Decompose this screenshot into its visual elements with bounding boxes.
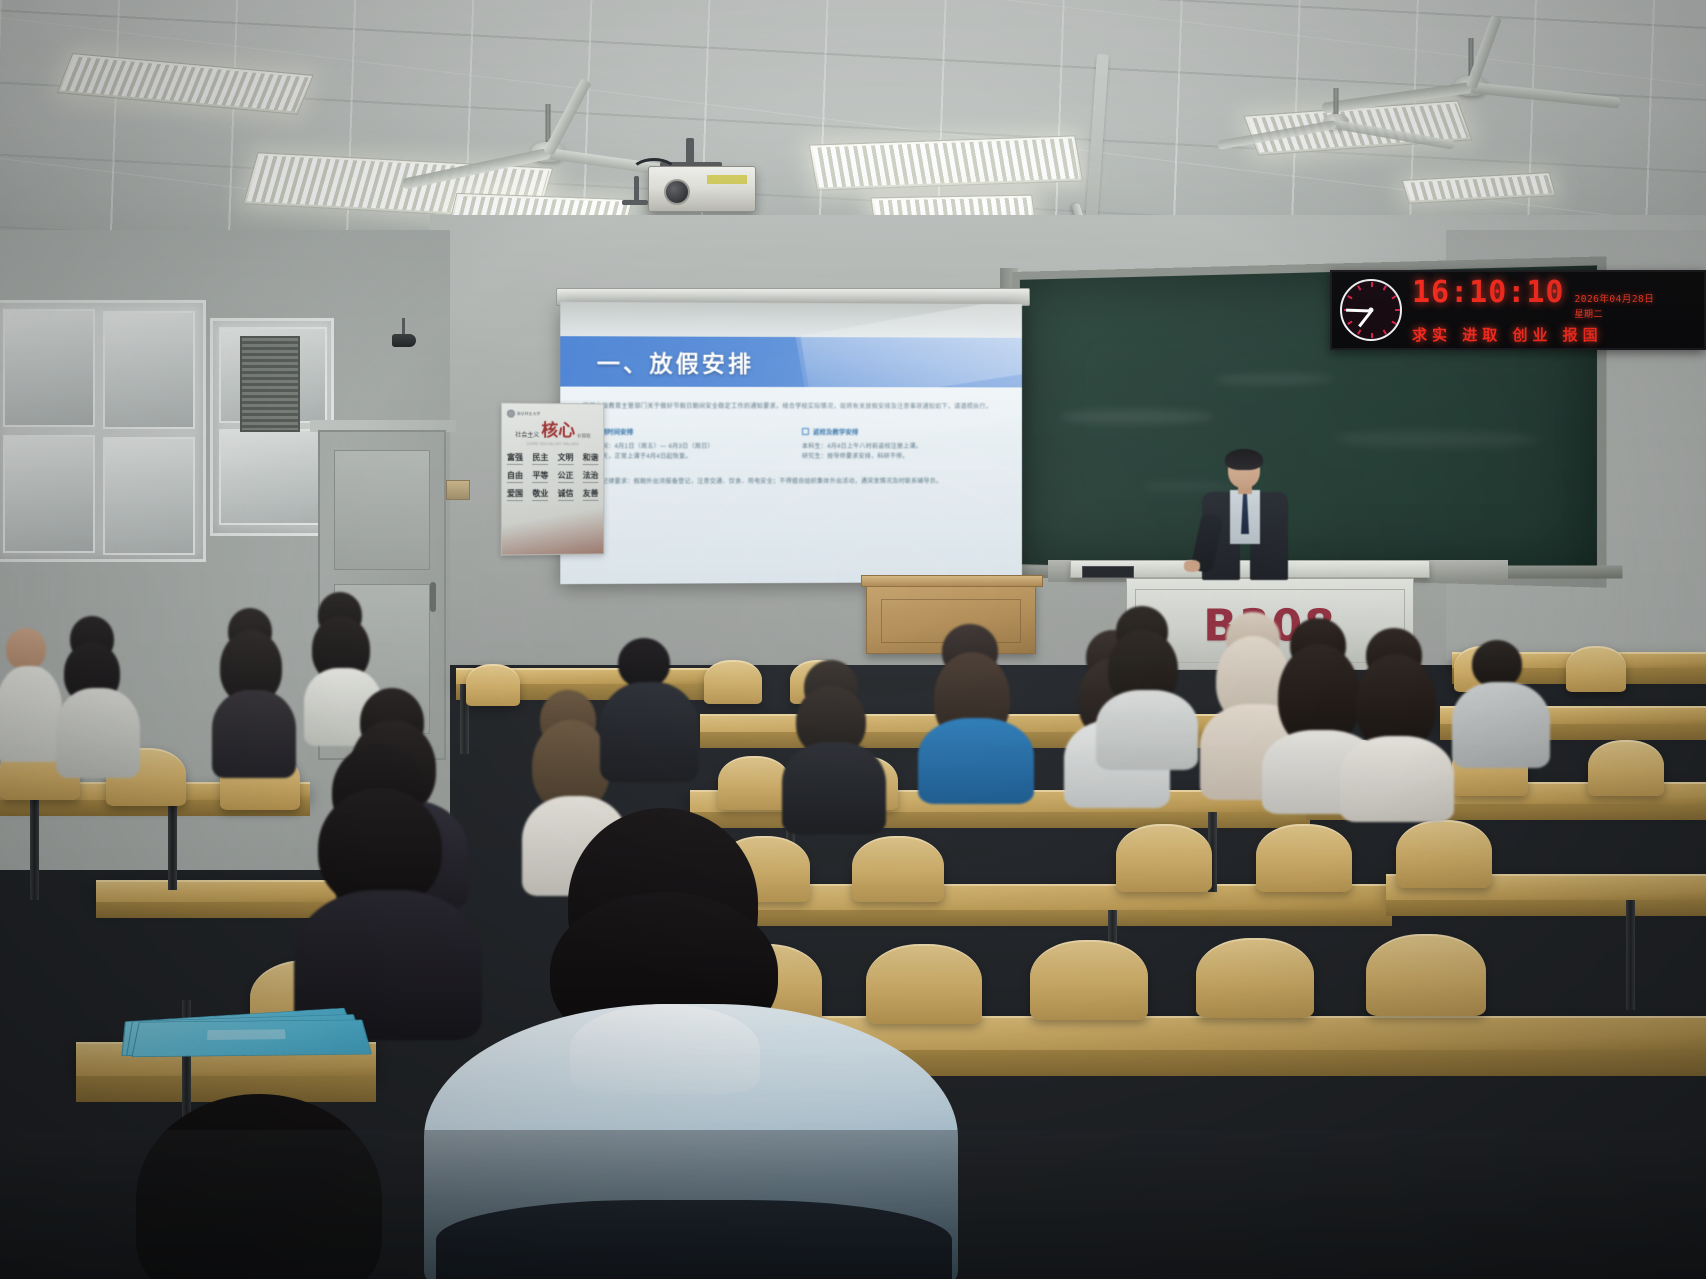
poster-value: 公正 xyxy=(558,470,574,483)
slide-column-line: 放假时间：4月1日（周五）— 4月3日（周日） xyxy=(583,443,784,453)
student xyxy=(596,638,700,778)
door-panel xyxy=(334,450,430,570)
booklet xyxy=(131,1020,372,1058)
chair-back xyxy=(704,660,762,704)
slide-column-line: 共计三天，正常上课于4月4日起恢复。 xyxy=(583,453,784,463)
poster-value: 和谐 xyxy=(583,452,599,465)
slide-column-right: 返校及教学安排 本科生：4月4日上午八时前返校注册上课。 研究生：按导师要求安排… xyxy=(802,426,1000,462)
chair-back xyxy=(1196,938,1314,1018)
projection-screen: 一、放假安排 根据上级教育主管部门关于做好节假日期间安全稳定工作的通知要求，结合… xyxy=(560,302,1022,584)
slide-column-heading: 假期时间安排 xyxy=(583,426,784,436)
desk-leg xyxy=(1626,900,1635,1010)
screen-top-margin xyxy=(560,302,1022,338)
slide-column-left: 假期时间安排 放假时间：4月1日（周五）— 4月3日（周日） 共计三天，正常上课… xyxy=(583,426,784,462)
poster-core-word: 核心 xyxy=(541,424,575,439)
door-handle[interactable] xyxy=(430,582,436,612)
checklist-icon xyxy=(802,428,809,435)
wall-plate xyxy=(446,480,470,500)
blue-booklets xyxy=(119,1009,380,1062)
chair-back xyxy=(466,664,520,706)
window-pane xyxy=(103,311,195,429)
chair-back xyxy=(1396,820,1492,888)
window-pane xyxy=(103,437,195,555)
student xyxy=(912,624,1036,784)
poster-suffix: 价值观 xyxy=(577,433,590,439)
slide-paragraph: 根据上级教育主管部门关于做好节假日期间安全稳定工作的通知要求，结合学校实际情况，… xyxy=(583,403,1001,413)
core-values-poster: 南京林业大学 社会主义 核心 价值观 CORE SOCIALIST VALUES… xyxy=(501,402,604,555)
wall-vent xyxy=(240,336,300,432)
poster-value: 民主 xyxy=(532,452,548,465)
recessed-monitor xyxy=(1082,566,1134,578)
ceiling-fan xyxy=(468,104,628,194)
ceiling-light-panel xyxy=(809,135,1083,190)
classroom-photo: 一、放假安排 根据上级教育主管部门关于做好节假日期间安全稳定工作的通知要求，结合… xyxy=(0,0,1706,1279)
poster-value: 爱国 xyxy=(507,488,523,501)
poster-value: 法治 xyxy=(583,470,599,483)
led-text-area: 16:10:10 2026年04月28日 星期二 求实 进取 创业 报国 xyxy=(1402,275,1704,345)
slide-column-heading: 返校及教学安排 xyxy=(802,426,1000,436)
analog-clock-face xyxy=(1340,279,1402,341)
poster-value: 诚信 xyxy=(558,488,574,501)
student xyxy=(1448,640,1552,760)
slide-column-heading-text: 返校及教学安排 xyxy=(813,426,858,436)
projector-label xyxy=(707,175,747,184)
student xyxy=(1092,606,1202,756)
lecturer-hair xyxy=(1225,449,1263,470)
poster-value: 平等 xyxy=(532,470,548,483)
slide-columns: 假期时间安排 放假时间：4月1日（周五）— 4月3日（周日） 共计三天，正常上课… xyxy=(583,426,1001,462)
window-pane xyxy=(3,309,95,427)
window-pane xyxy=(219,429,327,525)
student-collar xyxy=(570,1004,760,1094)
lecturer-hand xyxy=(1184,560,1200,572)
slide-column-line: 本科生：4月4日上午八时前返校注册上课。 xyxy=(802,443,1000,452)
lecturer xyxy=(1196,452,1292,578)
chair-back xyxy=(1256,824,1352,892)
poster-value: 自由 xyxy=(507,470,523,483)
led-time: 16:10:10 xyxy=(1412,275,1565,310)
led-date: 2026年04月28日 xyxy=(1575,291,1655,305)
chair-back xyxy=(1366,934,1486,1016)
desk-leg xyxy=(30,800,39,900)
poster-university-name: 南京林业大学 xyxy=(517,411,540,416)
ceiling-fan xyxy=(1266,88,1406,158)
slide-header-swoosh xyxy=(799,336,1022,387)
poster-value: 富强 xyxy=(507,452,523,465)
poster-value: 友善 xyxy=(583,488,599,501)
poster-value: 文明 xyxy=(558,452,574,465)
student xyxy=(1338,628,1456,798)
chair-back xyxy=(1588,740,1664,796)
security-camera xyxy=(392,330,418,348)
chair-back xyxy=(1566,646,1626,692)
led-motto: 求实 进取 创业 报国 xyxy=(1412,324,1704,345)
ceiling-fan xyxy=(1386,38,1556,128)
student xyxy=(56,616,138,766)
poster-university-logo: 南京林业大学 xyxy=(507,410,599,419)
slide-body: 根据上级教育主管部门关于做好节假日期间安全稳定工作的通知要求，结合学校实际情况，… xyxy=(560,387,1022,585)
projector-pole xyxy=(634,176,639,202)
slide-footer-note: 安全与纪律要求：假期外出须报备登记，注意交通、饮食、用电安全；不得擅自组织集体外… xyxy=(583,478,1001,488)
university-seal-icon xyxy=(507,410,515,418)
projector-hanger xyxy=(622,200,648,205)
window xyxy=(0,300,206,562)
student xyxy=(210,608,296,764)
slide-title: 一、放假安排 xyxy=(597,344,754,379)
poster-value: 敬业 xyxy=(532,488,548,501)
led-weekday: 星期二 xyxy=(1575,307,1604,320)
chair-back xyxy=(1116,824,1212,892)
poster-english-caption: CORE SOCIALIST VALUES xyxy=(507,442,599,446)
poster-values-row: 自由 平等 公正 法治 xyxy=(507,470,599,483)
slide-header-band: 一、放假安排 xyxy=(560,336,1022,387)
window-pane xyxy=(3,435,95,553)
student xyxy=(778,660,888,810)
slide-column-line: 研究生：按导师要求安排，科研不停。 xyxy=(802,452,1000,462)
desk-leg xyxy=(168,800,177,890)
student xyxy=(0,628,60,758)
led-clock-display: 16:10:10 2026年04月28日 星期二 求实 进取 创业 报国 xyxy=(1330,270,1706,350)
poster-values-row: 爱国 敬业 诚信 友善 xyxy=(507,488,599,501)
poster-prefix: 社会主义 xyxy=(515,430,539,439)
poster-headline: 社会主义 核心 价值观 xyxy=(507,424,599,440)
poster-values-row: 富强 民主 文明 和谐 xyxy=(507,452,599,465)
floor-shadow xyxy=(0,1130,1706,1279)
chair-back xyxy=(1030,940,1148,1020)
